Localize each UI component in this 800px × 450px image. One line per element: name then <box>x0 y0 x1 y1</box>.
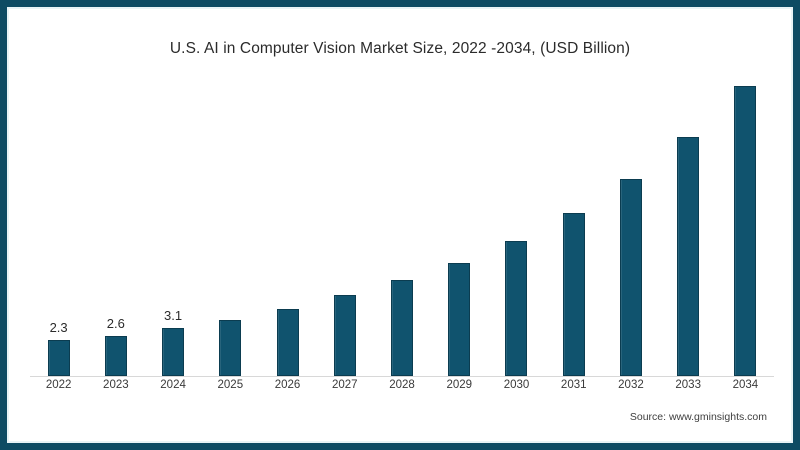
x-tick-label: 2027 <box>316 379 373 391</box>
chart-screenshot: U.S. AI in Computer Vision Market Size, … <box>0 0 800 450</box>
bar[interactable] <box>734 86 756 376</box>
bar-slot: 2.6 <box>87 75 144 376</box>
x-tick-label: 2028 <box>373 379 430 391</box>
x-tick-label: 2034 <box>717 379 774 391</box>
source-attribution: Source: www.gminsights.com <box>630 411 767 423</box>
bar-value-label: 2.3 <box>29 320 89 335</box>
bar-value-label: 2.6 <box>86 316 146 331</box>
bar-slot: 3.1 <box>144 75 201 376</box>
bar[interactable] <box>563 213 585 376</box>
chart-title: U.S. AI in Computer Vision Market Size, … <box>9 40 791 58</box>
x-tick-label: 2029 <box>431 379 488 391</box>
bar-slot <box>431 75 488 376</box>
bar-slot <box>259 75 316 376</box>
x-tick-label: 2022 <box>30 379 87 391</box>
bar[interactable] <box>620 179 642 376</box>
bar-slot <box>488 75 545 376</box>
x-tick-label: 2031 <box>545 379 602 391</box>
bar-slot <box>660 75 717 376</box>
bar[interactable] <box>162 328 184 376</box>
x-axis-tick-labels: 2022202320242025202620272028202920302031… <box>30 379 774 391</box>
bar-value-label: 3.1 <box>143 308 203 323</box>
x-tick-label: 2026 <box>259 379 316 391</box>
bar-slot <box>717 75 774 376</box>
x-tick-label: 2032 <box>602 379 659 391</box>
x-tick-label: 2025 <box>202 379 259 391</box>
bar-slot <box>373 75 430 376</box>
bar[interactable] <box>48 340 70 376</box>
x-axis-line <box>30 376 774 377</box>
chart-canvas: U.S. AI in Computer Vision Market Size, … <box>9 9 791 441</box>
bar[interactable] <box>677 137 699 376</box>
bar-series: 2.32.63.1 <box>30 75 774 376</box>
bar-slot <box>545 75 602 376</box>
bar[interactable] <box>391 280 413 376</box>
x-tick-label: 2024 <box>144 379 201 391</box>
bar[interactable] <box>448 263 470 376</box>
bar-slot <box>202 75 259 376</box>
bar-slot <box>316 75 373 376</box>
bar[interactable] <box>334 295 356 376</box>
bar[interactable] <box>219 320 241 376</box>
x-tick-label: 2030 <box>488 379 545 391</box>
bar-slot <box>602 75 659 376</box>
bar-slot: 2.3 <box>30 75 87 376</box>
bar[interactable] <box>105 336 127 376</box>
x-tick-label: 2033 <box>660 379 717 391</box>
plot-area: 2.32.63.1 <box>30 75 774 377</box>
bar[interactable] <box>277 309 299 376</box>
x-tick-label: 2023 <box>87 379 144 391</box>
bar[interactable] <box>505 241 527 376</box>
